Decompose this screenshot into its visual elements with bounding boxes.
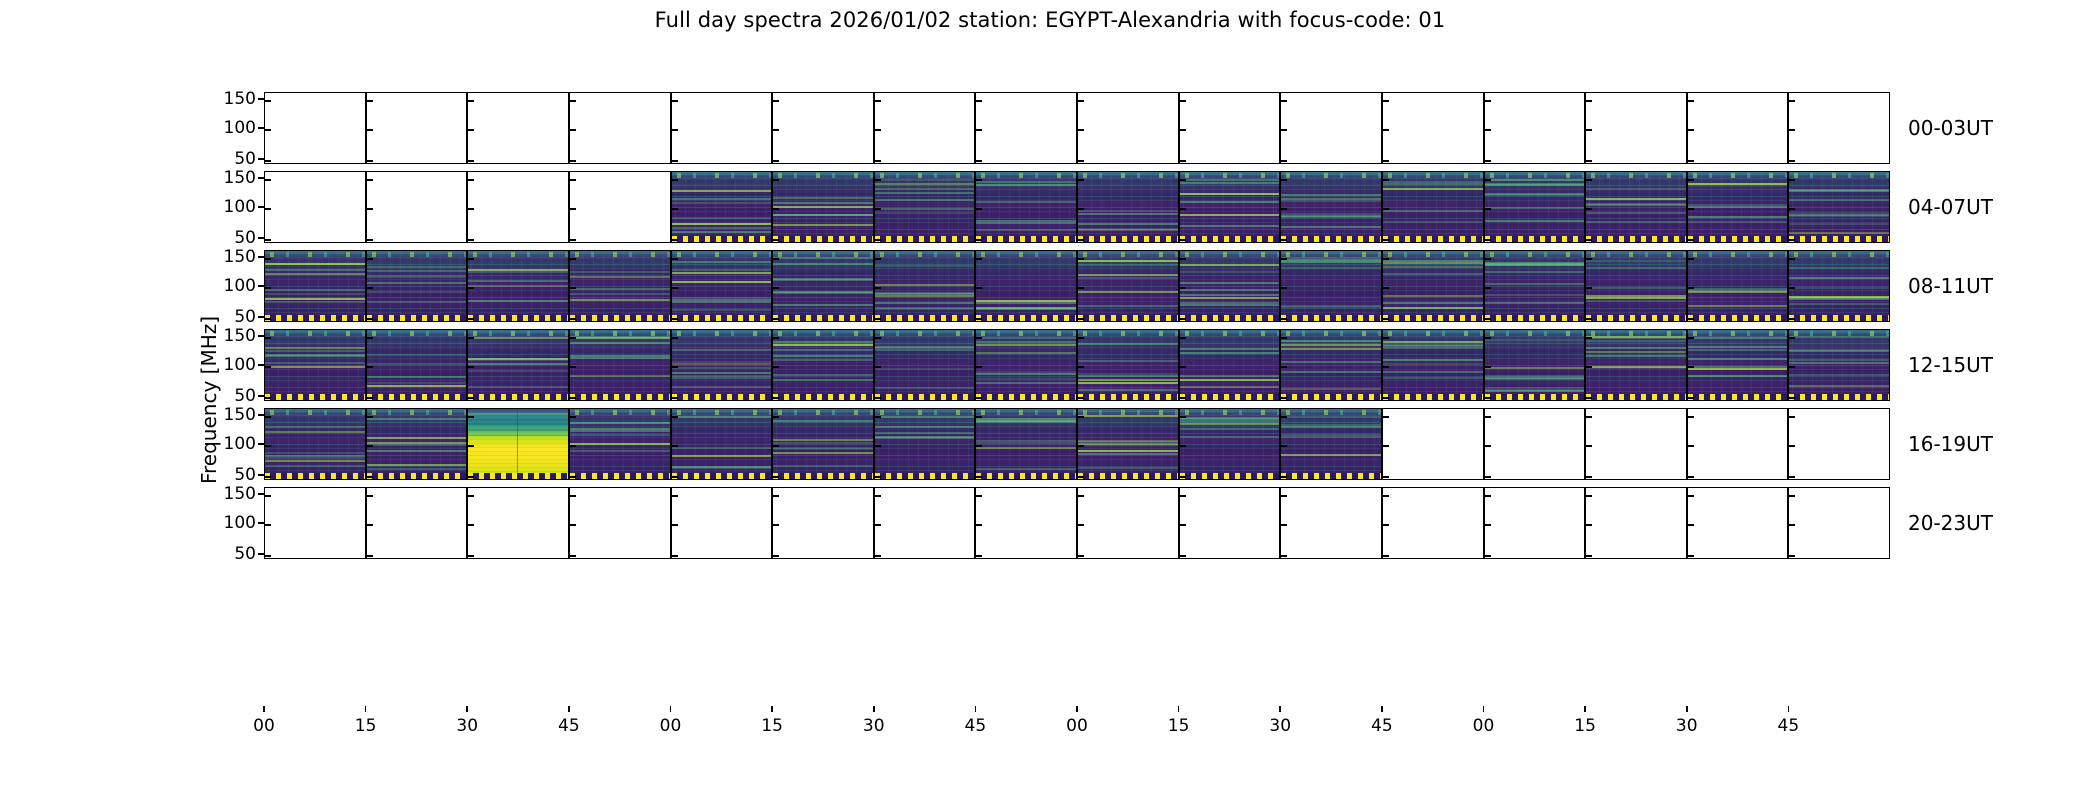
spectrogram-panel[interactable]: [467, 487, 569, 559]
y-tick-inner: [570, 337, 576, 339]
y-tick-inner: [1688, 129, 1694, 131]
y-tick-inner: [1586, 445, 1592, 447]
rfi-streak: [1383, 273, 1483, 275]
y-tick-inner: [1485, 524, 1491, 526]
y-tick-inner: [1789, 416, 1795, 418]
rfi-streak: [468, 386, 568, 388]
spectrogram-panel[interactable]: [264, 329, 366, 401]
rfi-streak: [875, 416, 975, 418]
rfi-streak: [468, 358, 568, 360]
rfi-streak: [773, 214, 873, 216]
spectrogram-panel[interactable]: [569, 250, 671, 322]
y-tick-mark: [258, 364, 264, 366]
rfi-streak: [1586, 351, 1686, 353]
y-tick-inner: [1586, 287, 1592, 289]
rfi-streak: [773, 224, 873, 226]
rfi-spikes-top: [1485, 252, 1585, 256]
y-tick-inner: [672, 179, 678, 181]
y-tick-inner: [1281, 524, 1287, 526]
spectrogram-panel[interactable]: [467, 250, 569, 322]
y-tick-inner: [1485, 258, 1491, 260]
y-tick-mark: [258, 443, 264, 445]
y-tick-inner: [976, 239, 982, 241]
y-tick-inner: [1485, 476, 1491, 478]
spectrogram-panel[interactable]: [772, 408, 874, 480]
rfi-streak: [875, 387, 975, 389]
y-tick-mark: [258, 177, 264, 179]
spectrogram-panel[interactable]: [1484, 329, 1586, 401]
rfi-streak: [773, 379, 873, 381]
x-tick-mark: [975, 706, 977, 712]
spectrogram-panel[interactable]: [366, 329, 468, 401]
rfi-streak: [1180, 225, 1280, 227]
y-tick-inner: [875, 397, 881, 399]
y-tick-mark: [258, 127, 264, 129]
spectrogram-panel[interactable]: [1280, 250, 1382, 322]
spectrogram-data: [1281, 251, 1381, 321]
y-tick-inner: [265, 179, 271, 181]
y-tick-mark: [258, 474, 264, 476]
y-tick-inner: [1180, 337, 1186, 339]
spectrogram-panel[interactable]: [366, 92, 468, 164]
y-tick-inner: [1485, 287, 1491, 289]
figure-title: Full day spectra 2026/01/02 station: EGY…: [0, 8, 2100, 32]
spectrogram-panel[interactable]: [569, 329, 671, 401]
spectrogram-panel[interactable]: [1077, 92, 1179, 164]
y-tick-inner: [773, 416, 779, 418]
y-tick-label: 150: [224, 405, 256, 425]
y-tick-inner: [367, 366, 373, 368]
y-tick-inner: [976, 179, 982, 181]
spectrogram-panel[interactable]: [1585, 408, 1687, 480]
y-tick-inner: [1586, 318, 1592, 320]
baseline-marker-strip: [875, 394, 975, 400]
rfi-streak: [1180, 282, 1280, 284]
rfi-streak: [672, 416, 772, 418]
baseline-marker-strip: [773, 315, 873, 321]
rfi-streak: [570, 450, 670, 452]
rfi-streak: [1078, 228, 1178, 230]
spectrogram-panel[interactable]: [671, 487, 773, 559]
y-tick-inner: [570, 160, 576, 162]
y-tick-inner: [1586, 160, 1592, 162]
y-tick-inner: [875, 476, 881, 478]
rfi-streak: [1789, 296, 1889, 298]
spectrogram-panel[interactable]: [467, 329, 569, 401]
y-tick-label: 100: [224, 434, 256, 454]
y-tick-inner: [672, 239, 678, 241]
spectrogram-frequency-noise: [1180, 330, 1280, 400]
rfi-streak: [1180, 182, 1280, 184]
spectrogram-panel[interactable]: [975, 487, 1077, 559]
rfi-streak: [1789, 189, 1889, 191]
spectrogram-panel[interactable]: [366, 171, 468, 243]
rfi-streak: [773, 344, 873, 346]
spectrogram-panel[interactable]: [874, 329, 976, 401]
spectrogram-panel[interactable]: [467, 408, 569, 480]
spectrogram-data: [875, 251, 975, 321]
spectrogram-data: [1180, 409, 1280, 479]
spectrogram-data: [773, 330, 873, 400]
spectrogram-data: [1688, 330, 1788, 400]
rfi-spikes-top: [1281, 410, 1381, 414]
y-tick-inner: [1383, 239, 1389, 241]
spectrogram-panel[interactable]: [1280, 329, 1382, 401]
rfi-streak: [1383, 363, 1483, 365]
x-tick-mark: [670, 706, 672, 712]
x-tick-mark: [1788, 706, 1790, 712]
spectrogram-data: [1383, 330, 1483, 400]
spectrogram-panel[interactable]: [1077, 171, 1179, 243]
y-tick-inner: [1180, 100, 1186, 102]
rfi-streak: [1485, 220, 1585, 222]
spectrogram-panel[interactable]: [264, 171, 366, 243]
spectrogram-panel[interactable]: [874, 487, 976, 559]
y-tick-inner: [1383, 258, 1389, 260]
spectrogram-panel[interactable]: [1382, 408, 1484, 480]
y-tick-inner: [1180, 318, 1186, 320]
rfi-streak: [773, 442, 873, 444]
y-tick-inner: [1281, 555, 1287, 557]
spectrogram-panel[interactable]: [1687, 487, 1789, 559]
spectrogram-panel[interactable]: [772, 92, 874, 164]
baseline-marker-strip: [976, 236, 1076, 242]
y-tick-inner: [570, 318, 576, 320]
rfi-streak: [367, 382, 467, 384]
spectrogram-panel[interactable]: [1484, 408, 1586, 480]
rfi-streak: [1383, 359, 1483, 361]
spectrogram-panel[interactable]: [874, 92, 976, 164]
y-tick-label: 50: [234, 544, 256, 564]
x-tick-label: 45: [1778, 716, 1800, 736]
rfi-streak: [773, 197, 873, 199]
spectrogram-panel[interactable]: [874, 250, 976, 322]
spectrogram-panel[interactable]: [1280, 408, 1382, 480]
spectrogram-panel[interactable]: [1687, 171, 1789, 243]
y-tick-inner: [1789, 524, 1795, 526]
spectrogram-panel[interactable]: [1179, 408, 1281, 480]
spectrogram-panel[interactable]: [975, 92, 1077, 164]
rfi-streak: [672, 269, 772, 271]
y-tick-inner: [367, 416, 373, 418]
spectrogram-panel[interactable]: [1179, 487, 1281, 559]
spectrogram-panel[interactable]: [366, 408, 468, 480]
rfi-streak: [672, 386, 772, 388]
spectrogram-panel[interactable]: [1484, 171, 1586, 243]
rfi-streak: [570, 299, 670, 301]
rfi-streak: [265, 293, 365, 295]
y-tick-inner: [1180, 239, 1186, 241]
y-tick-inner: [1789, 555, 1795, 557]
baseline-marker-strip: [1383, 394, 1483, 400]
rfi-streak: [875, 199, 975, 201]
spectrogram-panel[interactable]: [569, 487, 671, 559]
y-tick-inner: [672, 445, 678, 447]
baseline-marker-strip: [1078, 394, 1178, 400]
y-tick-inner: [468, 100, 474, 102]
rfi-spikes-top: [976, 252, 1076, 256]
rfi-streak: [265, 350, 365, 352]
x-tick-mark: [1686, 706, 1688, 712]
y-tick-inner: [367, 318, 373, 320]
spectrogram-panel[interactable]: [1382, 329, 1484, 401]
rfi-streak: [1586, 198, 1686, 200]
rfi-streak: [773, 304, 873, 306]
spectrogram-panel[interactable]: [1788, 171, 1890, 243]
y-tick-inner: [1789, 476, 1795, 478]
spectrogram-panel[interactable]: [1788, 329, 1890, 401]
rfi-streak: [265, 273, 365, 275]
rfi-streak: [570, 337, 670, 339]
spectrogram-panel[interactable]: [671, 408, 773, 480]
spectrogram-panel[interactable]: [1280, 92, 1382, 164]
spectrogram-panel[interactable]: [975, 171, 1077, 243]
y-tick-inner: [976, 287, 982, 289]
rfi-streak: [367, 444, 467, 446]
y-tick-inner: [1180, 208, 1186, 210]
spectrogram-panel[interactable]: [1484, 92, 1586, 164]
rfi-streak: [1281, 200, 1381, 202]
spectrogram-panel[interactable]: [1788, 92, 1890, 164]
spectrogram-panel[interactable]: [975, 408, 1077, 480]
spectrogram-panel[interactable]: [1179, 171, 1281, 243]
spectrogram-panel[interactable]: [366, 487, 468, 559]
y-tick-inner: [1281, 445, 1287, 447]
spectrogram-frequency-noise: [875, 330, 975, 400]
rfi-spikes-top: [1180, 331, 1280, 335]
y-tick-inner: [1688, 495, 1694, 497]
y-tick-mark: [258, 158, 264, 160]
rfi-streak: [265, 355, 365, 357]
ut-block-label: 08-11UT: [1908, 274, 1993, 298]
x-tick-mark: [1279, 706, 1281, 712]
y-tick-inner: [1485, 445, 1491, 447]
spectrogram-panel[interactable]: [671, 329, 773, 401]
rfi-streak: [570, 276, 670, 278]
spectrogram-panel[interactable]: [1382, 250, 1484, 322]
baseline-marker-strip: [1688, 236, 1788, 242]
ut-block-row: [264, 171, 1890, 243]
spectrogram-panel[interactable]: [1179, 329, 1281, 401]
y-tick-inner: [570, 495, 576, 497]
spectrogram-panel[interactable]: [1585, 329, 1687, 401]
y-tick-inner: [1281, 397, 1287, 399]
rfi-streak: [1586, 355, 1686, 357]
spectrogram-panel[interactable]: [1280, 487, 1382, 559]
rfi-streak: [1383, 262, 1483, 264]
rfi-spikes-top: [1180, 252, 1280, 256]
rfi-spikes-top: [265, 410, 365, 414]
rfi-streak: [265, 455, 365, 457]
spectrogram-panel[interactable]: [975, 329, 1077, 401]
x-tick-label: 15: [355, 716, 377, 736]
rfi-streak: [1180, 302, 1280, 304]
y-tick-inner: [1078, 337, 1084, 339]
y-tick-inner: [875, 445, 881, 447]
spectrogram-panel[interactable]: [1077, 408, 1179, 480]
spectrogram-panel[interactable]: [569, 171, 671, 243]
baseline-marker-strip: [1281, 473, 1381, 479]
rfi-streak: [1789, 267, 1889, 269]
y-tick-label: 150: [224, 89, 256, 109]
rfi-streak: [672, 261, 772, 263]
rfi-streak: [672, 301, 772, 303]
spectrogram-panel[interactable]: [1687, 250, 1789, 322]
y-tick-inner: [1383, 397, 1389, 399]
spectrogram-panel[interactable]: [264, 487, 366, 559]
rfi-streak: [367, 354, 467, 356]
spectrogram-panel[interactable]: [772, 250, 874, 322]
spectrogram-panel[interactable]: [1077, 250, 1179, 322]
rfi-streak: [672, 447, 772, 449]
spectrogram-panel[interactable]: [1687, 329, 1789, 401]
spectrogram-panel[interactable]: [1382, 171, 1484, 243]
rfi-streak: [1281, 215, 1381, 217]
y-tick-inner: [672, 397, 678, 399]
y-tick-inner: [1383, 100, 1389, 102]
spectrogram-panel[interactable]: [772, 171, 874, 243]
spectrogram-panel[interactable]: [874, 171, 976, 243]
y-tick-labels: 15010050: [196, 250, 256, 322]
spectrogram-frequency-noise: [976, 251, 1076, 321]
spectrogram-data: [1180, 251, 1280, 321]
spectrogram-panel[interactable]: [1179, 92, 1281, 164]
spectrogram-panel[interactable]: [975, 250, 1077, 322]
rfi-streak: [976, 378, 1076, 380]
spectrogram-panel[interactable]: [1687, 408, 1789, 480]
spectrogram-panel[interactable]: [1585, 92, 1687, 164]
rfi-streak: [773, 448, 873, 450]
spectrogram-panel[interactable]: [772, 487, 874, 559]
rfi-streak: [1383, 183, 1483, 185]
rfi-spikes-top: [672, 331, 772, 335]
burst-time-divider: [517, 409, 518, 473]
y-tick-inner: [1078, 258, 1084, 260]
spectrogram-data: [1688, 251, 1788, 321]
spectrogram-panel[interactable]: [1788, 250, 1890, 322]
spectrogram-panel[interactable]: [671, 171, 773, 243]
spectrogram-panel[interactable]: [1077, 329, 1179, 401]
spectrogram-panel[interactable]: [1788, 408, 1890, 480]
spectrogram-panel[interactable]: [671, 250, 773, 322]
spectrogram-panel[interactable]: [569, 92, 671, 164]
spectrogram-panel[interactable]: [1179, 250, 1281, 322]
spectrogram-panel[interactable]: [1382, 487, 1484, 559]
y-tick-labels: 15010050: [196, 329, 256, 401]
rfi-spikes-top: [1281, 173, 1381, 177]
x-tick-label: 30: [456, 716, 478, 736]
spectrogram-data: [976, 251, 1076, 321]
rfi-streak: [265, 452, 365, 454]
rfi-spikes-top: [976, 331, 1076, 335]
spectrogram-panel[interactable]: [264, 250, 366, 322]
rfi-streak: [1078, 375, 1178, 377]
rfi-spikes-top: [1586, 331, 1686, 335]
spectrogram-panel[interactable]: [467, 171, 569, 243]
spectrogram-panel[interactable]: [1585, 487, 1687, 559]
y-tick-inner: [468, 208, 474, 210]
spectrogram-panel[interactable]: [569, 408, 671, 480]
spectrogram-panel[interactable]: [1280, 171, 1382, 243]
rfi-streak: [875, 368, 975, 370]
rfi-streak: [672, 349, 772, 351]
rfi-streak: [468, 271, 568, 273]
spectrogram-panel[interactable]: [671, 92, 773, 164]
rfi-streak: [265, 269, 365, 271]
spectrogram-panel[interactable]: [1484, 250, 1586, 322]
rfi-spikes-top: [1688, 331, 1788, 335]
y-tick-inner: [672, 258, 678, 260]
rfi-streak: [1383, 341, 1483, 343]
rfi-streak: [570, 342, 670, 344]
y-tick-inner: [875, 208, 881, 210]
rfi-streak: [1789, 350, 1889, 352]
rfi-streak: [1281, 340, 1381, 342]
ut-block-label: 16-19UT: [1908, 432, 1993, 456]
spectrogram-data: [1789, 251, 1889, 321]
y-tick-inner: [1383, 318, 1389, 320]
rfi-streak: [1485, 387, 1585, 389]
rfi-streak: [976, 418, 1076, 420]
y-tick-inner: [468, 287, 474, 289]
y-tick-inner: [1485, 208, 1491, 210]
spectrogram-panel[interactable]: [1382, 92, 1484, 164]
rfi-streak: [570, 375, 670, 377]
rfi-streak: [1789, 223, 1889, 225]
rfi-streak: [265, 457, 365, 459]
baseline-marker-strip: [265, 394, 365, 400]
spectrogram-panel[interactable]: [1585, 250, 1687, 322]
spectrogram-frequency-noise: [265, 251, 365, 321]
y-tick-inner: [367, 476, 373, 478]
rfi-streak: [570, 422, 670, 424]
y-tick-inner: [773, 318, 779, 320]
spectrogram-panel[interactable]: [1585, 171, 1687, 243]
y-tick-inner: [1281, 495, 1287, 497]
baseline-marker-strip: [1586, 236, 1686, 242]
spectrogram-panel[interactable]: [264, 92, 366, 164]
y-tick-inner: [976, 397, 982, 399]
y-tick-label: 100: [224, 513, 256, 533]
spectrogram-panel[interactable]: [264, 408, 366, 480]
y-tick-inner: [672, 129, 678, 131]
rfi-streak: [1180, 201, 1280, 203]
baseline-marker-strip: [1281, 236, 1381, 242]
spectrogram-data: [1485, 172, 1585, 242]
y-tick-inner: [672, 318, 678, 320]
baseline-marker-strip: [1078, 315, 1178, 321]
spectrogram-panel[interactable]: [1788, 487, 1890, 559]
rfi-streak: [1485, 193, 1585, 195]
baseline-marker-strip: [1688, 315, 1788, 321]
spectrogram-panel[interactable]: [874, 408, 976, 480]
spectrogram-panel[interactable]: [1077, 487, 1179, 559]
spectrogram-panel[interactable]: [1484, 487, 1586, 559]
spectrogram-panel[interactable]: [467, 92, 569, 164]
y-tick-inner: [1688, 416, 1694, 418]
rfi-streak: [1485, 207, 1585, 209]
spectrogram-panel[interactable]: [772, 329, 874, 401]
baseline-marker-strip: [367, 394, 467, 400]
y-tick-label: 50: [234, 465, 256, 485]
spectrogram-panel[interactable]: [1687, 92, 1789, 164]
spectrogram-frequency-noise: [1789, 251, 1889, 321]
spectrogram-panel[interactable]: [366, 250, 468, 322]
y-tick-inner: [976, 160, 982, 162]
y-tick-inner: [1485, 337, 1491, 339]
rfi-streak: [875, 208, 975, 210]
rfi-streak: [976, 201, 1076, 203]
